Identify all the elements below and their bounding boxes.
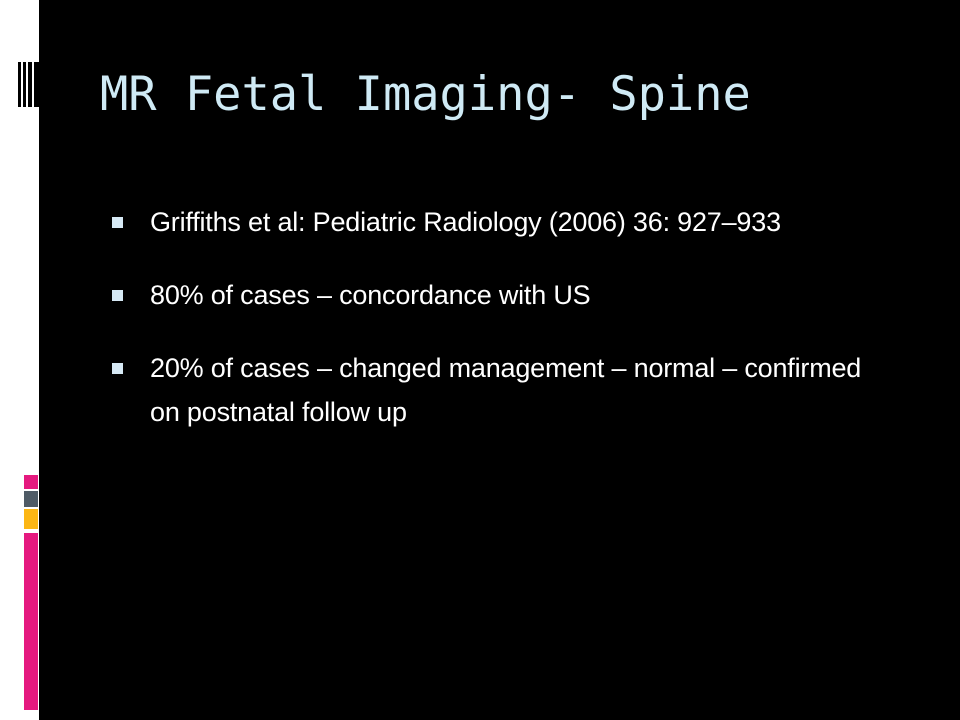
list-item-text: Griffiths et al: Pediatric Radiology (20…	[150, 200, 898, 244]
square-bullet-icon	[112, 217, 123, 228]
list-item-text: 80% of cases – concordance with US	[150, 273, 898, 317]
gutter-stripe-3	[28, 62, 32, 107]
slide-root: MR Fetal Imaging- Spine Griffiths et al:…	[0, 0, 960, 720]
gutter-stripe-1	[18, 62, 21, 107]
pink-swatch	[24, 475, 38, 489]
left-gutter-decoration	[0, 0, 39, 720]
amber-swatch	[24, 509, 38, 529]
page-title: MR Fetal Imaging- Spine	[100, 60, 900, 130]
list-item-text: 20% of cases – changed management – norm…	[150, 346, 898, 434]
list-item: 80% of cases – concordance with US	[108, 273, 898, 317]
list-item: Griffiths et al: Pediatric Radiology (20…	[108, 200, 898, 244]
gutter-stripe-4	[34, 62, 39, 107]
pink-long-bar	[24, 533, 38, 710]
list-item: 20% of cases – changed management – norm…	[108, 346, 898, 434]
square-bullet-icon	[112, 363, 123, 374]
slate-swatch	[24, 491, 38, 507]
gutter-stripe-2	[23, 62, 26, 107]
bullet-list: Griffiths et al: Pediatric Radiology (20…	[108, 200, 898, 463]
square-bullet-icon	[112, 290, 123, 301]
